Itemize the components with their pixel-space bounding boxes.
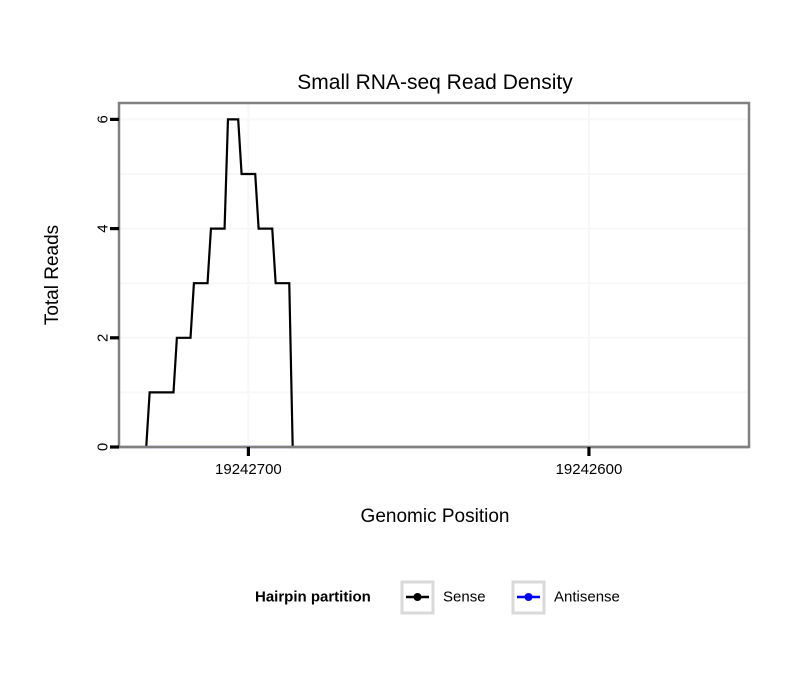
plot-panel-background <box>119 103 749 447</box>
y-tick-label: 2 <box>95 334 112 342</box>
y-tick-label: 0 <box>95 443 112 451</box>
x-tick-label: 19242700 <box>215 461 282 478</box>
x-axis-title: Genomic Position <box>361 506 510 527</box>
rna-read-density-chart: Small RNA-seq Read Density 0246 19242700… <box>0 0 810 690</box>
y-tick-label: 4 <box>95 224 112 232</box>
x-tick-label: 19242600 <box>556 461 623 478</box>
legend-key-point-antisense <box>525 593 533 601</box>
chart-container: Small RNA-seq Read Density 0246 19242700… <box>0 0 810 690</box>
legend-label-sense: Sense <box>443 589 486 606</box>
legend-title: Hairpin partition <box>255 589 371 606</box>
y-tick-label: 6 <box>95 115 112 123</box>
legend-label-antisense: Antisense <box>554 589 620 606</box>
legend-key-point-sense <box>414 593 422 601</box>
chart-title: Small RNA-seq Read Density <box>297 71 573 94</box>
y-axis-title: Total Reads <box>42 225 63 325</box>
